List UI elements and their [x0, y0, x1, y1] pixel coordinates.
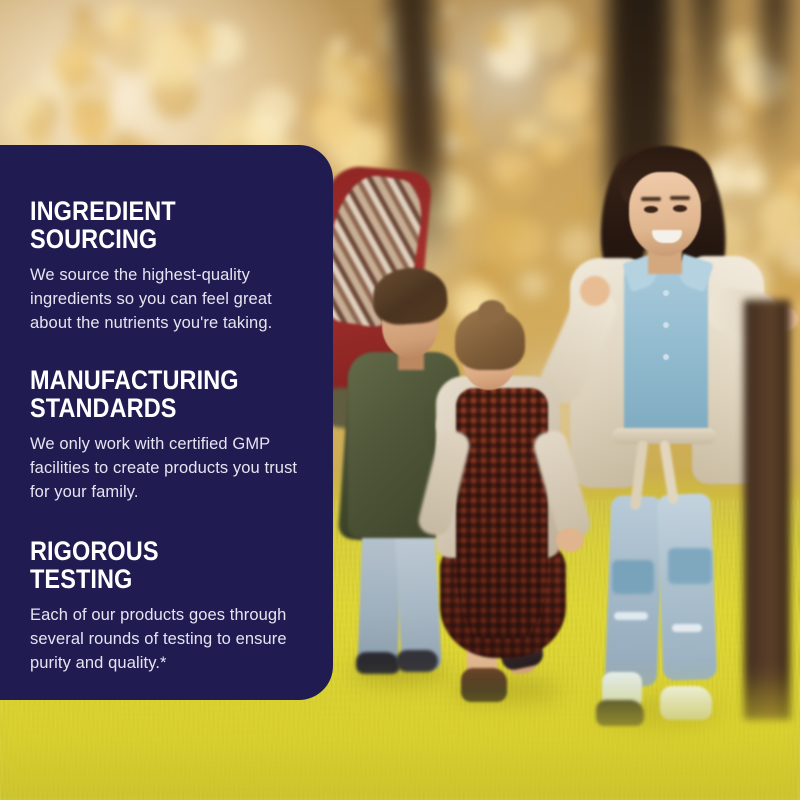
mother-jeans	[657, 493, 717, 681]
eyebrow	[670, 196, 690, 200]
block-title: INGREDIENT SOURCING	[30, 197, 268, 253]
quality-promise-panel: INGREDIENT SOURCING We source the highes…	[0, 145, 333, 700]
belt-tie	[659, 440, 679, 505]
jeans-rip	[672, 624, 702, 632]
promise-block-ingredient-sourcing: INGREDIENT SOURCING We source the highes…	[30, 197, 303, 336]
promise-block-rigorous-testing: RIGOROUS TESTING Each of our products go…	[30, 537, 303, 676]
mother-face	[629, 172, 701, 256]
girl-hand	[556, 528, 584, 552]
promise-block-manufacturing-standards: MANUFACTURING STANDARDS We only work wit…	[30, 366, 303, 505]
girl-dress	[456, 388, 548, 638]
jeans-rip	[614, 612, 648, 620]
boy-shoe	[396, 650, 438, 672]
shirt-button	[663, 322, 669, 328]
block-body: We source the highest-quality ingredient…	[30, 264, 303, 336]
block-title: MANUFACTURING STANDARDS	[30, 366, 268, 422]
eye	[644, 206, 658, 213]
promise-banner: INGREDIENT SOURCING We source the highes…	[0, 0, 800, 800]
jeans-patch	[612, 560, 654, 594]
shirt-button	[663, 354, 669, 360]
block-body: We only work with certified GMP faciliti…	[30, 433, 303, 505]
eyebrow	[641, 197, 661, 201]
eye	[673, 205, 687, 212]
girl-hair-bun	[478, 300, 506, 324]
block-title: RIGOROUS TESTING	[30, 537, 268, 593]
block-body: Each of our products goes through severa…	[30, 604, 303, 676]
boy-jeans	[394, 517, 442, 671]
foreground-tree-trunk-icon	[744, 300, 790, 720]
shirt-button	[663, 290, 669, 296]
mother-hand	[580, 276, 610, 306]
jeans-patch	[668, 548, 712, 584]
